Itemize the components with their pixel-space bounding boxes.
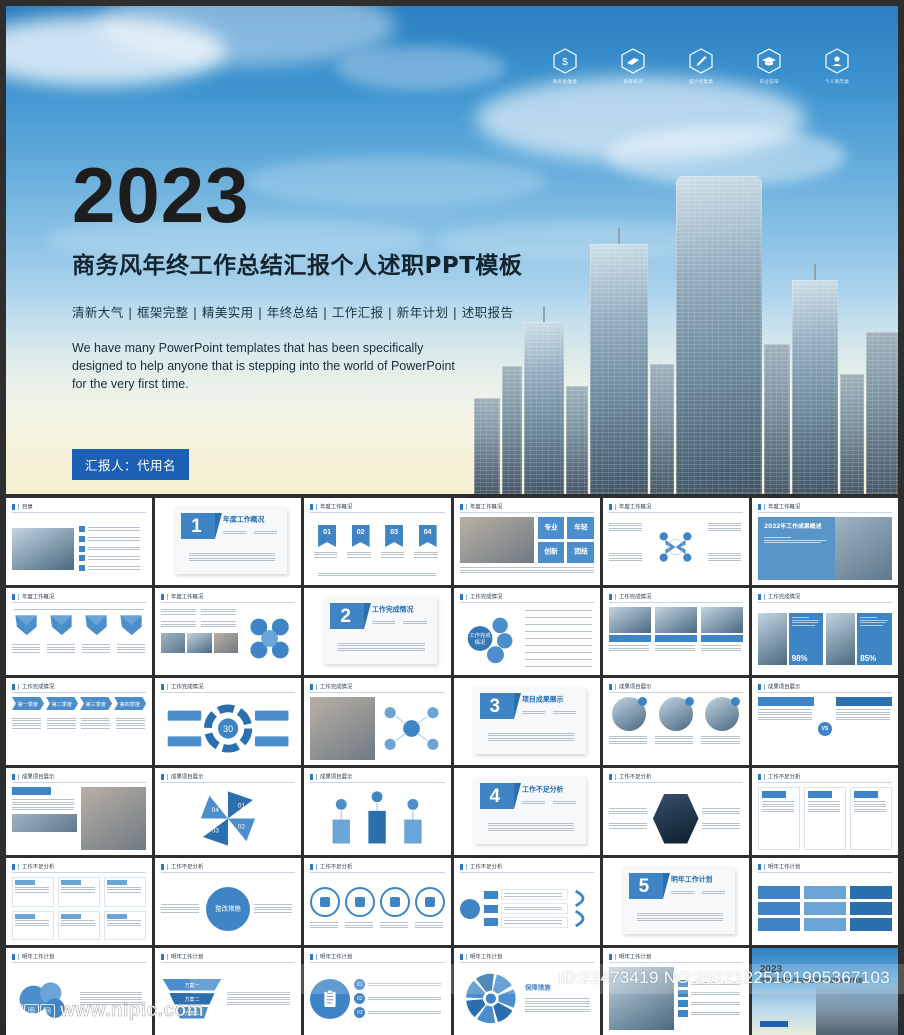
slide-header-title: 年度工作概况	[470, 503, 502, 511]
header-rule	[310, 782, 444, 783]
slide-body	[758, 877, 892, 940]
slide-body	[12, 877, 146, 940]
slide-body	[12, 607, 146, 670]
slide-thumbnail[interactable]: 工作不足分析	[454, 858, 600, 945]
section-number-tab: 5	[629, 873, 663, 899]
header-accent-bar	[758, 864, 761, 870]
slide-header-title: 明年工作计划	[619, 953, 651, 961]
header-rule	[758, 872, 892, 873]
header-rule	[12, 872, 146, 873]
ribbon-badge: 01	[318, 525, 336, 547]
header-accent-bar	[460, 504, 463, 510]
ppt-preview-page: $ 商务金融类 教育培训 设计创意类 毕业答辩	[0, 0, 904, 1024]
slide-header: 年度工作概况	[460, 503, 594, 511]
slide-header: 明年工作计划	[758, 863, 892, 871]
ribbon-badge: 02	[352, 525, 370, 547]
header-rule	[609, 782, 743, 783]
header-tick	[316, 864, 317, 870]
page-title: 商务风年终工作总结汇报个人述职PPT模板	[72, 246, 522, 280]
image-id-text: ID:22473419 NO:20221225101905367103	[558, 968, 890, 988]
slide-body: 01020304	[310, 517, 444, 580]
header-accent-bar	[758, 684, 761, 690]
section-title: 明年工作计划	[671, 875, 712, 885]
end-cover-badge	[760, 1021, 788, 1027]
chip-label: 创新	[538, 542, 564, 564]
slide-header-title: 工作完成情况	[22, 683, 54, 691]
slide-header-title: 工作不足分析	[768, 773, 800, 781]
slide-header: 工作完成情况	[310, 683, 444, 691]
slide-header: 年度工作概况	[161, 593, 295, 601]
section-number: 1	[191, 517, 202, 536]
header-accent-bar	[758, 504, 761, 510]
icon-person[interactable]: 个人简历类	[814, 46, 860, 84]
slide-body: 5明年工作计划	[609, 862, 743, 940]
header-rule	[12, 962, 146, 963]
slide-thumbnail[interactable]: 工作完成情况工作完成情况	[454, 588, 600, 675]
section-title: 工作不足分析	[522, 785, 563, 795]
header-accent-bar	[310, 684, 313, 690]
slide-header: 年度工作概况	[758, 503, 892, 511]
slide-thumbnail[interactable]: 工作完成情况	[603, 588, 749, 675]
slide-thumbnail[interactable]: 工作不足分析	[304, 858, 450, 945]
slide-header: 成果项目展示	[12, 773, 146, 781]
header-tick	[764, 774, 765, 780]
header-accent-bar	[310, 864, 313, 870]
header-rule	[758, 782, 892, 783]
header-rule	[161, 602, 295, 603]
section-number-tab: 2	[330, 603, 364, 629]
chip-label: 团结	[567, 542, 593, 564]
header-tick	[764, 684, 765, 690]
header-tick	[18, 864, 19, 870]
ribbon-badge: 03	[385, 525, 403, 547]
slide-header-title: 年度工作概况	[320, 503, 352, 511]
watermark-logo: 昵 图 网	[8, 1004, 55, 1019]
slide-thumbnail[interactable]: 年度工作概况	[6, 588, 152, 675]
slide-header: 年度工作概况	[310, 503, 444, 511]
slide-body	[609, 517, 743, 580]
header-rule	[161, 872, 295, 873]
slide-header: 明年工作计划	[310, 953, 444, 961]
slide-header-title: 工作完成情况	[470, 593, 502, 601]
slide-header-title: 工作不足分析	[470, 863, 502, 871]
slide-thumbnail[interactable]: 4工作不足分析	[454, 768, 600, 855]
info-panel: 2022年工作成果概述	[758, 517, 835, 580]
header-tick	[18, 774, 19, 780]
slide-header: 年度工作概况	[12, 593, 146, 601]
slide-thumbnail[interactable]: 工作不足分析	[752, 768, 898, 855]
header-rule	[12, 512, 146, 513]
slide-header-title: 成果项目展示	[320, 773, 352, 781]
slide-thumbnail[interactable]: 工作完成情况	[304, 678, 450, 765]
header-tick	[167, 774, 168, 780]
slide-body: 专业年轻创新团结	[460, 517, 594, 580]
graduation-icon[interactable]	[756, 46, 782, 75]
slide-header: 工作不足分析	[460, 863, 594, 871]
section-card: 4工作不足分析	[474, 777, 586, 844]
slide-header-title: 工作不足分析	[22, 863, 54, 871]
slide-body: 98%85%	[758, 607, 892, 670]
header-tick	[764, 504, 765, 510]
slide-body	[609, 787, 743, 850]
header-tick	[466, 594, 467, 600]
slide-thumbnail[interactable]: 年度工作概况2022年工作成果概述	[752, 498, 898, 585]
header-rule	[460, 872, 594, 873]
section-number-tab: 3	[480, 693, 514, 719]
slide-header-title: 年度工作概况	[768, 503, 800, 511]
slide-header: 成果项目展示	[161, 773, 295, 781]
header-tick	[167, 594, 168, 600]
header-accent-bar	[161, 774, 164, 780]
icon-book[interactable]: 教育培训	[610, 46, 656, 84]
svg-text:01: 01	[238, 803, 246, 810]
slide-thumbnail[interactable]: 成果项目展示	[603, 678, 749, 765]
slide-thumbnail[interactable]: 工作不足分析	[6, 858, 152, 945]
ribbon-badge: 04	[419, 525, 437, 547]
slide-body: 整改措施	[161, 877, 295, 940]
header-accent-bar	[460, 954, 463, 960]
step-badge: 03	[354, 1007, 365, 1018]
section-number-tab: 1	[181, 513, 215, 539]
slide-body	[310, 697, 444, 760]
svg-text:30: 30	[223, 724, 233, 734]
section-title: 项目成果展示	[522, 695, 563, 705]
header-accent-bar	[609, 504, 612, 510]
gear-icon	[345, 887, 375, 917]
chip-label: 年轻	[567, 517, 593, 539]
thumb-photo	[653, 794, 699, 844]
slide-body	[609, 697, 743, 760]
svg-text:02: 02	[238, 823, 246, 830]
chevron-step: 第二季度	[46, 697, 78, 710]
icon-label: 个人简历类	[825, 79, 849, 86]
section-title: 年度工作概况	[223, 515, 264, 525]
header-tick	[316, 504, 317, 510]
header-tick	[466, 864, 467, 870]
slide-body: 1年度工作概况	[161, 502, 295, 580]
header-accent-bar	[609, 594, 612, 600]
header-accent-bar	[12, 594, 15, 600]
slide-header-title: 成果项目展示	[768, 683, 800, 691]
header-accent-bar	[310, 774, 313, 780]
thumb-photo	[12, 528, 74, 570]
header-accent-bar	[758, 774, 761, 780]
slide-header: 成果项目展示	[609, 683, 743, 691]
header-tick	[316, 954, 317, 960]
slide-thumbnail[interactable]: 工作完成情况第一季度第二季度第三季度第四季度	[6, 678, 152, 765]
header-accent-bar	[609, 954, 612, 960]
slide-header-title: 明年工作计划	[768, 863, 800, 871]
slide-header: 工作不足分析	[12, 863, 146, 871]
section-card: 3项目成果展示	[474, 687, 586, 754]
header-tick	[615, 954, 616, 960]
header-rule	[460, 602, 594, 603]
header-tick	[615, 594, 616, 600]
center-label: 整改措施	[206, 887, 250, 931]
slide-thumbnail[interactable]: 成果项目展示	[6, 768, 152, 855]
header-rule	[609, 692, 743, 693]
section-card: 5明年工作计划	[623, 867, 735, 934]
slide-body: 第一季度第二季度第三季度第四季度	[12, 697, 146, 760]
slide-body: 01020304	[161, 787, 295, 850]
header-accent-bar	[609, 684, 612, 690]
header-rule	[310, 512, 444, 513]
slide-body: 工作完成情况	[460, 607, 594, 670]
slide-header-title: 工作完成情况	[768, 593, 800, 601]
slide-body	[609, 607, 743, 670]
header-tick	[167, 684, 168, 690]
header-rule	[310, 692, 444, 693]
percent-value: 98%	[792, 654, 808, 663]
header-rule	[310, 872, 444, 873]
section-number: 5	[639, 877, 650, 896]
header-accent-bar	[12, 864, 15, 870]
slide-header: 工作完成情况	[609, 593, 743, 601]
header-accent-bar	[460, 864, 463, 870]
slide-thumbnail[interactable]: 目录	[6, 498, 152, 585]
pen-icon	[380, 887, 410, 917]
slide-header-title: 明年工作计划	[470, 953, 502, 961]
slide-thumbnail[interactable]: 明年工作计划	[752, 858, 898, 945]
section-number: 3	[490, 697, 501, 716]
header-rule	[161, 692, 295, 693]
slide-body: VS	[758, 697, 892, 760]
header-rule	[609, 602, 743, 603]
slide-header-title: 工作不足分析	[171, 863, 203, 871]
slide-header-title: 成果项目展示	[171, 773, 203, 781]
header-accent-bar	[12, 774, 15, 780]
chevron-step: 第四季度	[114, 697, 146, 710]
slide-header: 明年工作计划	[460, 953, 594, 961]
svg-text:$: $	[562, 57, 568, 68]
slide-header: 明年工作计划	[12, 953, 146, 961]
slide-thumbnail[interactable]: 工作完成情况98%85%	[752, 588, 898, 675]
header-tick	[764, 594, 765, 600]
header-tick	[167, 864, 168, 870]
slide-thumbnail[interactable]: 5明年工作计划	[603, 858, 749, 945]
panel-title: 2022年工作成果概述	[764, 522, 865, 531]
header-tick	[466, 954, 467, 960]
slide-thumbnail[interactable]: 成果项目展示01020304	[155, 768, 301, 855]
header-accent-bar	[12, 954, 15, 960]
watermark: 昵 图 网 www.nipic.com	[8, 1000, 204, 1022]
header-accent-bar	[310, 504, 313, 510]
watermark-char: 网	[40, 1004, 55, 1019]
cover-text-block: 2023 商务风年终工作总结汇报个人述职PPT模板 清新大气 | 框架完整 | …	[72, 158, 522, 393]
slide-header-title: 明年工作计划	[171, 953, 203, 961]
header-tick	[615, 684, 616, 690]
chevron-step: 第一季度	[12, 697, 44, 710]
slide-header-title: 工作不足分析	[320, 863, 352, 871]
slide-body	[161, 607, 295, 670]
slide-thumbnail[interactable]: 3项目成果展示	[454, 678, 600, 765]
slide-header: 目录	[12, 503, 146, 511]
pen-icon[interactable]	[688, 46, 714, 75]
slide-header-title: 工作完成情况	[171, 683, 203, 691]
header-rule	[460, 512, 594, 513]
slide-body	[12, 787, 146, 850]
cloud-shape	[336, 46, 506, 90]
header-accent-bar	[161, 954, 164, 960]
slide-body: 3项目成果展示	[460, 682, 594, 760]
slide-header-title: 明年工作计划	[320, 953, 352, 961]
slide-header: 明年工作计划	[609, 953, 743, 961]
header-accent-bar	[609, 774, 612, 780]
section-number: 4	[490, 787, 501, 806]
section-number-tab: 4	[480, 783, 514, 809]
cover-slide: $ 商务金融类 教育培训 设计创意类 毕业答辩	[6, 6, 898, 494]
slide-body: 4工作不足分析	[460, 772, 594, 850]
slide-body	[310, 877, 444, 940]
slide-thumbnail[interactable]: 成果项目展示VS	[752, 678, 898, 765]
slide-header: 工作完成情况	[12, 683, 146, 691]
header-rule	[310, 962, 444, 963]
cover-lead-paragraph: We have many PowerPoint templates that h…	[72, 339, 472, 393]
slide-thumbnail[interactable]: 工作不足分析	[603, 768, 749, 855]
header-tick	[316, 774, 317, 780]
slide-header: 年度工作概况	[609, 503, 743, 511]
slide-header: 明年工作计划	[161, 953, 295, 961]
header-tick	[18, 954, 19, 960]
slide-header-title: 明年工作计划	[22, 953, 54, 961]
slide-thumbnail[interactable]: 2工作完成情况	[304, 588, 450, 675]
slide-thumbnail[interactable]: 成果项目展示	[304, 768, 450, 855]
slide-body	[460, 877, 594, 940]
slide-body	[310, 787, 444, 850]
slide-header: 工作完成情况	[460, 593, 594, 601]
slide-thumbnail[interactable]: 1年度工作概况	[155, 498, 301, 585]
header-accent-bar	[161, 864, 164, 870]
slide-header: 成果项目展示	[310, 773, 444, 781]
header-accent-bar	[12, 684, 15, 690]
header-rule	[161, 782, 295, 783]
presenter-badge: 汇报人：代用名	[72, 449, 189, 480]
header-accent-bar	[460, 594, 463, 600]
header-rule	[758, 602, 892, 603]
doc-icon	[310, 887, 340, 917]
slide-body: 2工作完成情况	[310, 592, 444, 670]
header-tick	[18, 504, 19, 510]
svg-text:03: 03	[212, 828, 220, 835]
slide-header-title: 工作完成情况	[619, 593, 651, 601]
slide-thumbnail[interactable]: 年度工作概况专业年轻创新团结	[454, 498, 600, 585]
slide-thumbnail-grid[interactable]: 目录1年度工作概况年度工作概况01020304年度工作概况专业年轻创新团结年度工…	[6, 498, 898, 1035]
slide-header-title: 目录	[22, 503, 33, 511]
icon-pen[interactable]: 设计创意类	[678, 46, 724, 84]
header-tick	[316, 684, 317, 690]
header-rule	[460, 962, 594, 963]
slide-header-title: 年度工作概况	[171, 593, 203, 601]
slide-thumbnail[interactable]: 年度工作概况	[603, 498, 749, 585]
slide-thumbnail[interactable]: 工作不足分析整改措施	[155, 858, 301, 945]
money-icon[interactable]: $	[552, 46, 578, 75]
header-accent-bar	[161, 684, 164, 690]
slide-header: 工作完成情况	[161, 683, 295, 691]
icon-label: 设计创意类	[689, 79, 713, 86]
cover-icon-strip[interactable]: $ 商务金融类 教育培训 设计创意类 毕业答辩	[542, 46, 860, 84]
header-tick	[167, 954, 168, 960]
header-tick	[764, 864, 765, 870]
slide-body: 2022年工作成果概述	[758, 517, 892, 580]
svg-text:04: 04	[212, 807, 220, 814]
slide-header-title: 成果项目展示	[619, 683, 651, 691]
header-tick	[466, 504, 467, 510]
icon-label: 毕业答辩	[759, 79, 778, 86]
header-tick	[615, 504, 616, 510]
watermark-char: 昵	[8, 1004, 23, 1019]
header-rule	[758, 512, 892, 513]
slide-body	[12, 517, 146, 580]
slide-header: 工作不足分析	[161, 863, 295, 871]
slide-thumbnail[interactable]: 工作完成情况30	[155, 678, 301, 765]
cover-keywords: 清新大气 | 框架完整 | 精美实用 | 年终总结 | 工作汇报 | 新年计划 …	[72, 302, 522, 321]
section-card: 1年度工作概况	[175, 507, 287, 574]
slide-header: 工作不足分析	[609, 773, 743, 781]
header-tick	[18, 594, 19, 600]
header-rule	[609, 512, 743, 513]
icon-label: 教育培训	[623, 79, 642, 86]
chevron-step: 第三季度	[80, 697, 112, 710]
slide-thumbnail[interactable]: 年度工作概况	[155, 588, 301, 675]
header-tick	[615, 774, 616, 780]
thumb-photo	[460, 517, 535, 563]
slide-header-title: 成果项目展示	[22, 773, 54, 781]
slide-header: 工作不足分析	[758, 773, 892, 781]
chip-label: 专业	[538, 517, 564, 539]
percent-value: 85%	[860, 654, 876, 663]
icon-graduation[interactable]: 毕业答辩	[746, 46, 792, 84]
header-rule	[758, 692, 892, 693]
header-rule	[609, 962, 743, 963]
cover-year: 2023	[72, 158, 522, 232]
icon-money[interactable]: $ 商务金融类	[542, 46, 588, 84]
header-accent-bar	[758, 594, 761, 600]
header-rule	[12, 602, 146, 603]
person-icon[interactable]	[824, 46, 850, 75]
section-card: 2工作完成情况	[324, 597, 436, 664]
slide-thumbnail[interactable]: 年度工作概况01020304	[304, 498, 450, 585]
slide-header-title: 工作完成情况	[320, 683, 352, 691]
vs-badge: VS	[818, 722, 832, 736]
watermark-char: 图	[24, 1004, 39, 1019]
slide-header-title: 年度工作概况	[619, 503, 651, 511]
watermark-site: www.nipic.com	[60, 1000, 204, 1022]
slide-header-title: 工作不足分析	[619, 773, 651, 781]
step-badge: 02	[354, 993, 365, 1004]
icon-label: 商务金融类	[553, 79, 577, 86]
header-rule	[12, 692, 146, 693]
section-title: 工作完成情况	[372, 605, 413, 615]
header-rule	[12, 782, 146, 783]
book-icon[interactable]	[620, 46, 646, 75]
city-skyline	[468, 164, 898, 494]
slide-header-title: 年度工作概况	[22, 593, 54, 601]
header-tick	[18, 684, 19, 690]
slide-header: 成果项目展示	[758, 683, 892, 691]
header-rule	[161, 962, 295, 963]
header-accent-bar	[161, 594, 164, 600]
slide-body	[758, 787, 892, 850]
search-icon	[415, 887, 445, 917]
header-accent-bar	[310, 954, 313, 960]
slide-header: 工作完成情况	[758, 593, 892, 601]
header-accent-bar	[12, 504, 15, 510]
section-number: 2	[340, 607, 351, 626]
slide-body: 30	[161, 697, 295, 760]
slide-header: 工作不足分析	[310, 863, 444, 871]
